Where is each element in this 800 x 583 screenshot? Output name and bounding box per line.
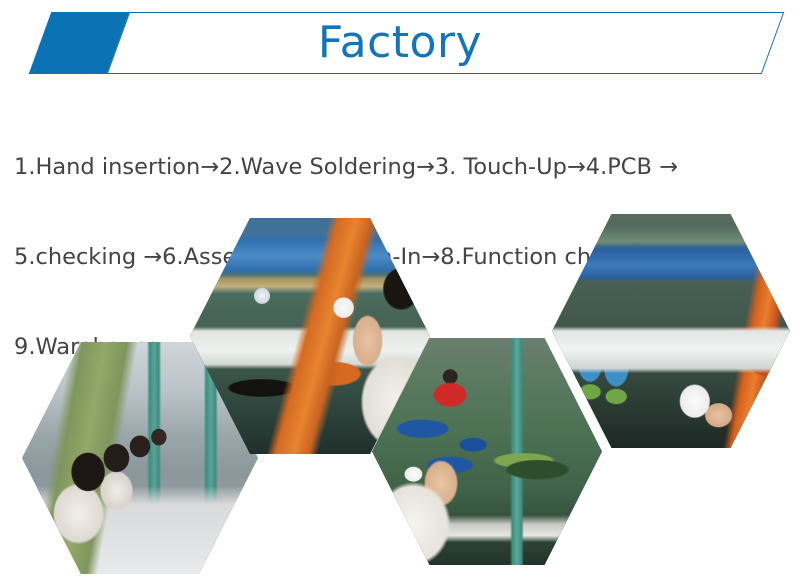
process-flow-line-1: 1.Hand insertion→2.Wave Soldering→3. Tou… (14, 152, 786, 182)
page-title: Factory (0, 12, 800, 74)
hexagon-photo-gallery (0, 190, 800, 583)
hexagon-photo-aging-test (552, 214, 790, 448)
page-header-banner: Factory (0, 0, 800, 90)
factory-photo-load-test (552, 214, 790, 448)
